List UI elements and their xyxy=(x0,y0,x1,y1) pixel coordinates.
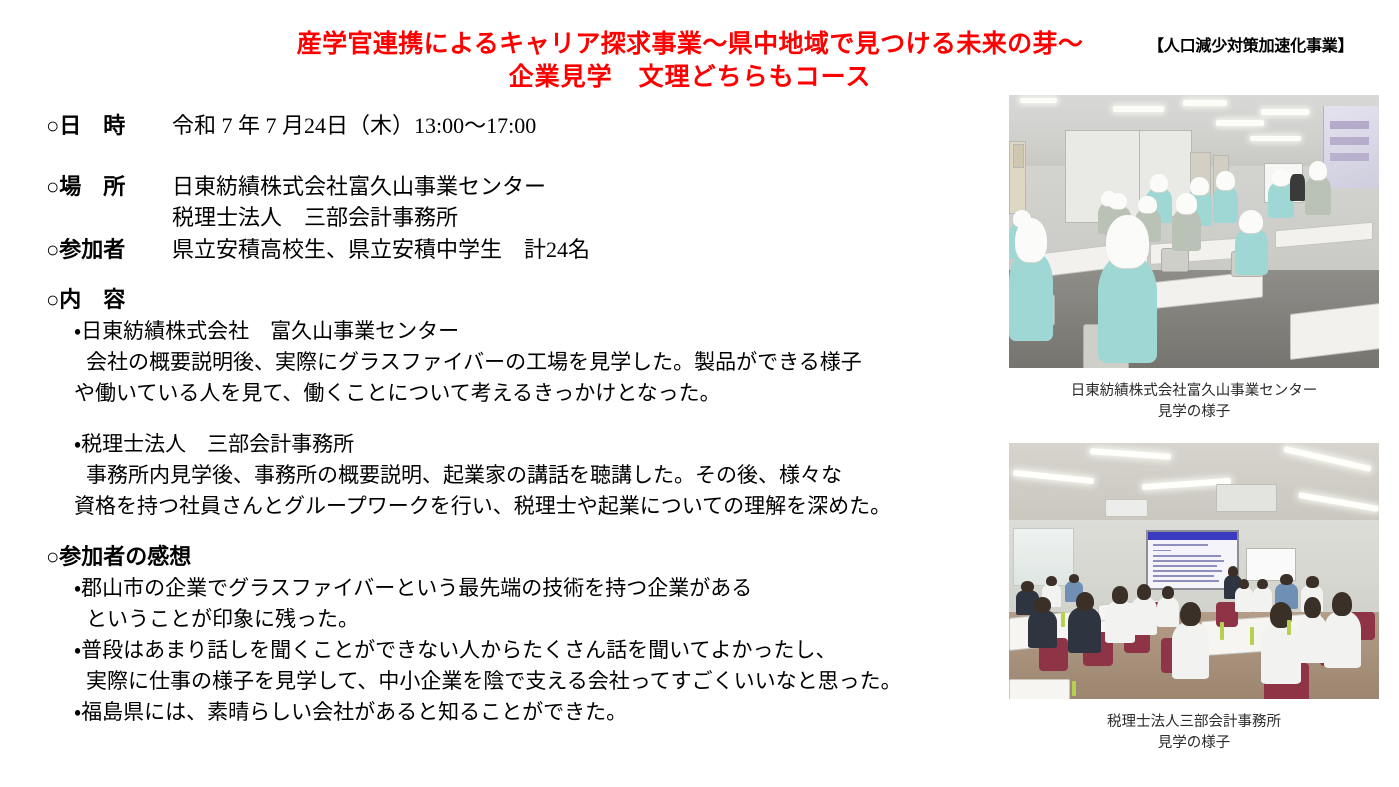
uniform xyxy=(1305,176,1331,215)
wall-panel xyxy=(1013,144,1024,168)
student-figure xyxy=(1009,218,1053,341)
datetime-label: ○日 時 xyxy=(46,110,172,141)
ceiling-light xyxy=(1261,109,1309,115)
uniform xyxy=(1009,252,1053,340)
hard-hat xyxy=(1106,215,1149,269)
hard-hat xyxy=(1272,169,1291,188)
impression-line: ということが印象に残った。 xyxy=(86,604,1006,635)
hard-hat xyxy=(1239,210,1263,235)
uniform xyxy=(1172,209,1202,250)
slide-text-line xyxy=(1153,570,1222,572)
attendee-figure xyxy=(1324,592,1361,669)
person-head xyxy=(1112,586,1129,604)
sanbe-accounting-photo xyxy=(1009,443,1379,699)
drink-bottle xyxy=(1220,622,1224,640)
document-page: 産学官連携によるキャリア探求事業～県中地域で見つける未来の芽～ 企業見学 文理ど… xyxy=(0,0,1399,787)
hard-hat xyxy=(1109,193,1128,210)
attendee-figure xyxy=(1172,602,1209,679)
drink-bottle xyxy=(1287,620,1291,635)
venue-label: ○場 所 xyxy=(46,171,172,202)
content-item-body-line-2: 資格を持つ社員さんとグループワークを行い、税理士や起業についての理解を深めた。 xyxy=(74,491,1006,522)
projector-screen xyxy=(1323,106,1380,188)
participants-label: ○参加者 xyxy=(46,234,172,265)
person-torso xyxy=(1235,587,1254,612)
projector xyxy=(1105,499,1148,516)
ceiling-light xyxy=(1020,98,1057,103)
spacer xyxy=(46,522,1006,542)
hard-hat xyxy=(1150,174,1169,193)
person-head xyxy=(1228,566,1238,577)
nittobo-factory-photo xyxy=(1009,95,1379,368)
caption-line-1: 日東紡績株式会社富久山事業センター xyxy=(1009,381,1379,402)
slide-text-line xyxy=(1153,565,1217,567)
info-row-participants: ○参加者 県立安積高校生、県立安積中学生 計24名 xyxy=(46,234,1006,265)
person-head xyxy=(1137,584,1151,600)
uniform xyxy=(1235,228,1268,275)
person-torso xyxy=(1261,623,1302,684)
person-torso xyxy=(1131,597,1157,635)
document-title: 産学官連携によるキャリア探求事業～県中地域で見つける未来の芽～ 企業見学 文理ど… xyxy=(230,28,1150,94)
venue-value-line-2: 税理士法人 三部会計事務所 xyxy=(172,202,1006,233)
participants-value: 県立安積高校生、県立安積中学生 計24名 xyxy=(172,234,590,265)
slide-text-line xyxy=(1153,555,1220,557)
slide-text-line xyxy=(1153,580,1219,582)
student-figure xyxy=(1305,161,1331,216)
nittobo-photo-caption: 日東紡績株式会社富久山事業センター 見学の様子 xyxy=(1009,381,1379,423)
person-head xyxy=(1280,574,1292,585)
person-head xyxy=(1021,581,1033,592)
venue-value-line-1: 日東紡績株式会社富久山事業センター xyxy=(172,171,546,202)
caption-line-2: 見学の様子 xyxy=(1009,733,1379,754)
student-figure xyxy=(1172,193,1202,250)
drink-bottle xyxy=(1072,681,1076,696)
impression-line: 実際に仕事の様子を見学して、中小企業を陰で支える会社ってすごくいいなと思った。 xyxy=(86,666,1006,697)
person-head xyxy=(1180,602,1201,627)
hard-hat xyxy=(1176,193,1197,215)
ceiling-light xyxy=(1183,100,1227,106)
person-head xyxy=(1046,576,1056,586)
datetime-value: 令和 7 年 7 月24日（木）13:00～17:00 xyxy=(172,110,536,141)
content-heading: ○内 容 xyxy=(46,285,1006,316)
student-figure xyxy=(1235,210,1268,276)
uniform xyxy=(1098,256,1157,362)
spacer xyxy=(46,141,1006,171)
slide-title-bar xyxy=(1148,532,1237,540)
content-item-body-line-2: や働いている人を見て、働くことについて考えるきっかけとなった。 xyxy=(74,378,1006,409)
impressions-heading: ○参加者の感想 xyxy=(46,542,1006,573)
info-row-venue: ○場 所 日東紡績株式会社富久山事業センター xyxy=(46,171,1006,202)
attendee-figure xyxy=(1028,597,1058,648)
ceiling-light xyxy=(1216,120,1264,126)
student-figure xyxy=(1098,215,1157,362)
attendee-figure xyxy=(1235,579,1254,612)
sanbe-photo-caption: 税理士法人三部会計事務所 見学の様子 xyxy=(1009,712,1379,754)
impression-line: ・福島県には、素晴らしい会社があると知ることができた。 xyxy=(74,697,1006,728)
hard-hat xyxy=(1309,161,1328,182)
person-head xyxy=(1076,592,1095,612)
person-torso xyxy=(1068,607,1101,652)
attendee-figure xyxy=(1131,584,1157,635)
content-item-body-line-1: 会社の概要説明後、実際にグラスファイバーの工場を見学した。製品ができる様子 xyxy=(86,347,1006,378)
hard-hat xyxy=(1216,171,1235,191)
ceiling-light xyxy=(1250,136,1302,141)
ceiling-vent xyxy=(1216,484,1277,512)
slide-text-line xyxy=(1153,550,1171,552)
hard-hat xyxy=(1015,218,1047,263)
slide-text-line xyxy=(1153,544,1208,546)
person-head xyxy=(1034,597,1051,613)
photo-column: 日東紡績株式会社富久山事業センター 見学の様子 xyxy=(1009,95,1379,754)
impression-line: ・郡山市の企業でグラスファイバーという最先端の技術を持つ企業がある xyxy=(74,573,1006,604)
person-head xyxy=(1257,579,1267,590)
info-row-datetime: ○日 時 令和 7 年 7 月24日（木）13:00～17:00 xyxy=(46,110,1006,141)
person-head xyxy=(1069,574,1079,583)
spacer xyxy=(1009,423,1379,443)
slide-text-line xyxy=(1153,575,1213,577)
title-line-1: 産学官連携によるキャリア探求事業～県中地域で見つける未来の芽～ xyxy=(230,28,1150,61)
chair xyxy=(1161,248,1189,272)
drink-bottle xyxy=(1061,612,1065,627)
person-head xyxy=(1306,576,1318,587)
person-torso xyxy=(1028,610,1058,648)
hard-hat xyxy=(1138,196,1157,214)
content-item-body-line-1: 事務所内見学後、事務所の概要説明、起業家の講話を聴講した。その後、様々な xyxy=(86,460,1006,491)
ceiling-light xyxy=(1113,106,1165,113)
attendee-figure xyxy=(1068,592,1101,653)
person-head xyxy=(1332,592,1353,617)
staff-clothing xyxy=(1290,174,1305,202)
person-head xyxy=(1304,597,1321,618)
spacer xyxy=(46,409,1006,429)
caption-line-2: 見学の様子 xyxy=(1009,402,1379,423)
title-line-2: 企業見学 文理どちらもコース xyxy=(230,61,1150,94)
spacer xyxy=(46,265,1006,285)
program-badge: 【人口減少対策加速化事業】 xyxy=(1148,32,1353,56)
slide-text-line xyxy=(1153,560,1224,562)
person-head xyxy=(1239,579,1249,590)
drink-bottle xyxy=(1250,627,1254,645)
person-head xyxy=(1162,586,1174,599)
content-item-bullet: ・税理士法人 三部会計事務所 xyxy=(74,429,1006,460)
content-item-bullet: ・日東紡績株式会社 富久山事業センター xyxy=(74,316,1006,347)
impression-line: ・普段はあまり話しを聞くことができない人からたくさん話を聞いてよかったし、 xyxy=(74,635,1006,666)
caption-line-1: 税理士法人三部会計事務所 xyxy=(1009,712,1379,733)
attendee-figure xyxy=(1261,602,1302,684)
staff-figure xyxy=(1290,163,1305,201)
person-torso xyxy=(1172,622,1209,679)
main-content-column: ○日 時 令和 7 年 7 月24日（木）13:00～17:00 ○場 所 日東… xyxy=(46,110,1006,728)
person-torso xyxy=(1324,611,1361,668)
table xyxy=(1009,679,1070,699)
